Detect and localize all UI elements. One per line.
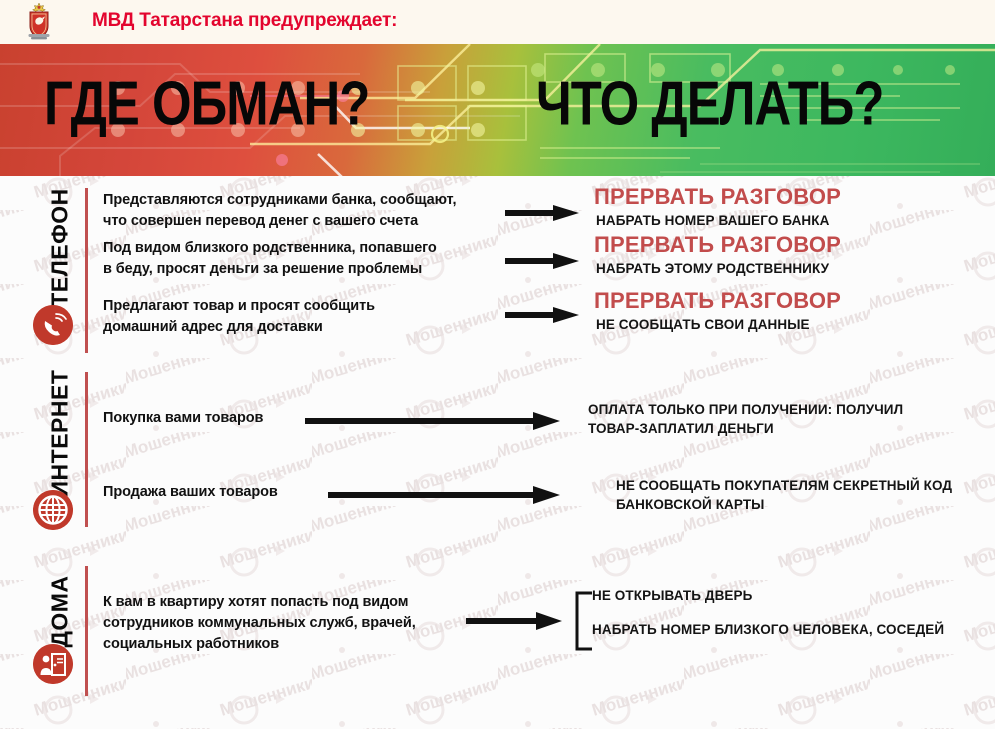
section-divider (85, 372, 88, 527)
advice-title: ПРЕРВАТЬ РАЗГОВОР (594, 288, 841, 314)
section-divider (85, 566, 88, 696)
page-title: МВД Татарстана предупреждает: (92, 10, 397, 32)
advice-subtitle: НЕ СООБЩАТЬ ПОКУПАТЕЛЯМ СЕКРЕТНЫЙ КОД БА… (616, 476, 956, 514)
section-telephone: ТЕЛЕФОН Представляются сотрудниками банк… (0, 176, 995, 361)
arrow-right-icon (505, 202, 579, 224)
banner-title-left: ГДЕ ОБМАН? (44, 68, 369, 140)
section-label-internet: ИНТЕРНЕТ (47, 378, 74, 498)
advice-title: ПРЕРВАТЬ РАЗГОВОР (594, 232, 841, 258)
fraud-awareness-poster: МВД Татарстана предупреждает: (0, 0, 995, 729)
arrow-right-long-icon (328, 484, 560, 506)
page-header: МВД Татарстана предупреждает: (0, 0, 995, 44)
advice-subtitle: НЕ СООБЩАТЬ СВОИ ДАННЫЕ (596, 315, 810, 334)
phone-ring-icon (33, 305, 73, 345)
bracket-split-icon (572, 590, 594, 652)
content-area: Мошенники ТЕЛЕФОН (0, 176, 995, 729)
section-label-telephone: ТЕЛЕФОН (47, 188, 74, 308)
arrow-right-icon (505, 304, 579, 326)
advice-subtitle: ОПЛАТА ТОЛЬКО ПРИ ПОЛУЧЕНИИ: ПОЛУЧИЛ ТОВ… (588, 400, 918, 438)
risk-text: К вам в квартиру хотят попасть под видом… (103, 592, 503, 655)
advice-title: ПРЕРВАТЬ РАЗГОВОР (594, 184, 841, 210)
arrow-right-icon (505, 250, 579, 272)
advice-subtitle: НАБРАТЬ НОМЕР БЛИЗКОГО ЧЕЛОВЕКА, СОСЕДЕЙ (592, 620, 944, 639)
banner: ГДЕ ОБМАН? ЧТО ДЕЛАТЬ? (0, 44, 995, 176)
advice-subtitle: НАБРАТЬ ЭТОМУ РОДСТВЕННИКУ (596, 259, 829, 278)
risk-text: Предлагают товар и просят сообщить домаш… (103, 296, 503, 338)
risk-text: Представляются сотрудниками банка, сообщ… (103, 190, 503, 232)
globe-icon (33, 490, 73, 530)
section-internet: ИНТЕРНЕТ Покупка вами товаров ОПЛАТА ТОЛ… (0, 372, 995, 542)
advice-subtitle: НЕ ОТКРЫВАТЬ ДВЕРЬ (592, 586, 752, 605)
risk-text: Под видом близкого родственника, попавше… (103, 238, 513, 280)
arrow-right-icon (466, 610, 562, 632)
section-home: ДОМА К вам в квартиру хотят попасть под … (0, 566, 995, 706)
arrow-right-long-icon (305, 410, 560, 432)
section-divider (85, 188, 88, 353)
banner-title-right: ЧТО ДЕЛАТЬ? (536, 68, 884, 140)
mvd-tatarstan-emblem (18, 1, 60, 43)
door-intruder-icon (33, 644, 73, 684)
advice-subtitle: НАБРАТЬ НОМЕР ВАШЕГО БАНКА (596, 211, 829, 230)
